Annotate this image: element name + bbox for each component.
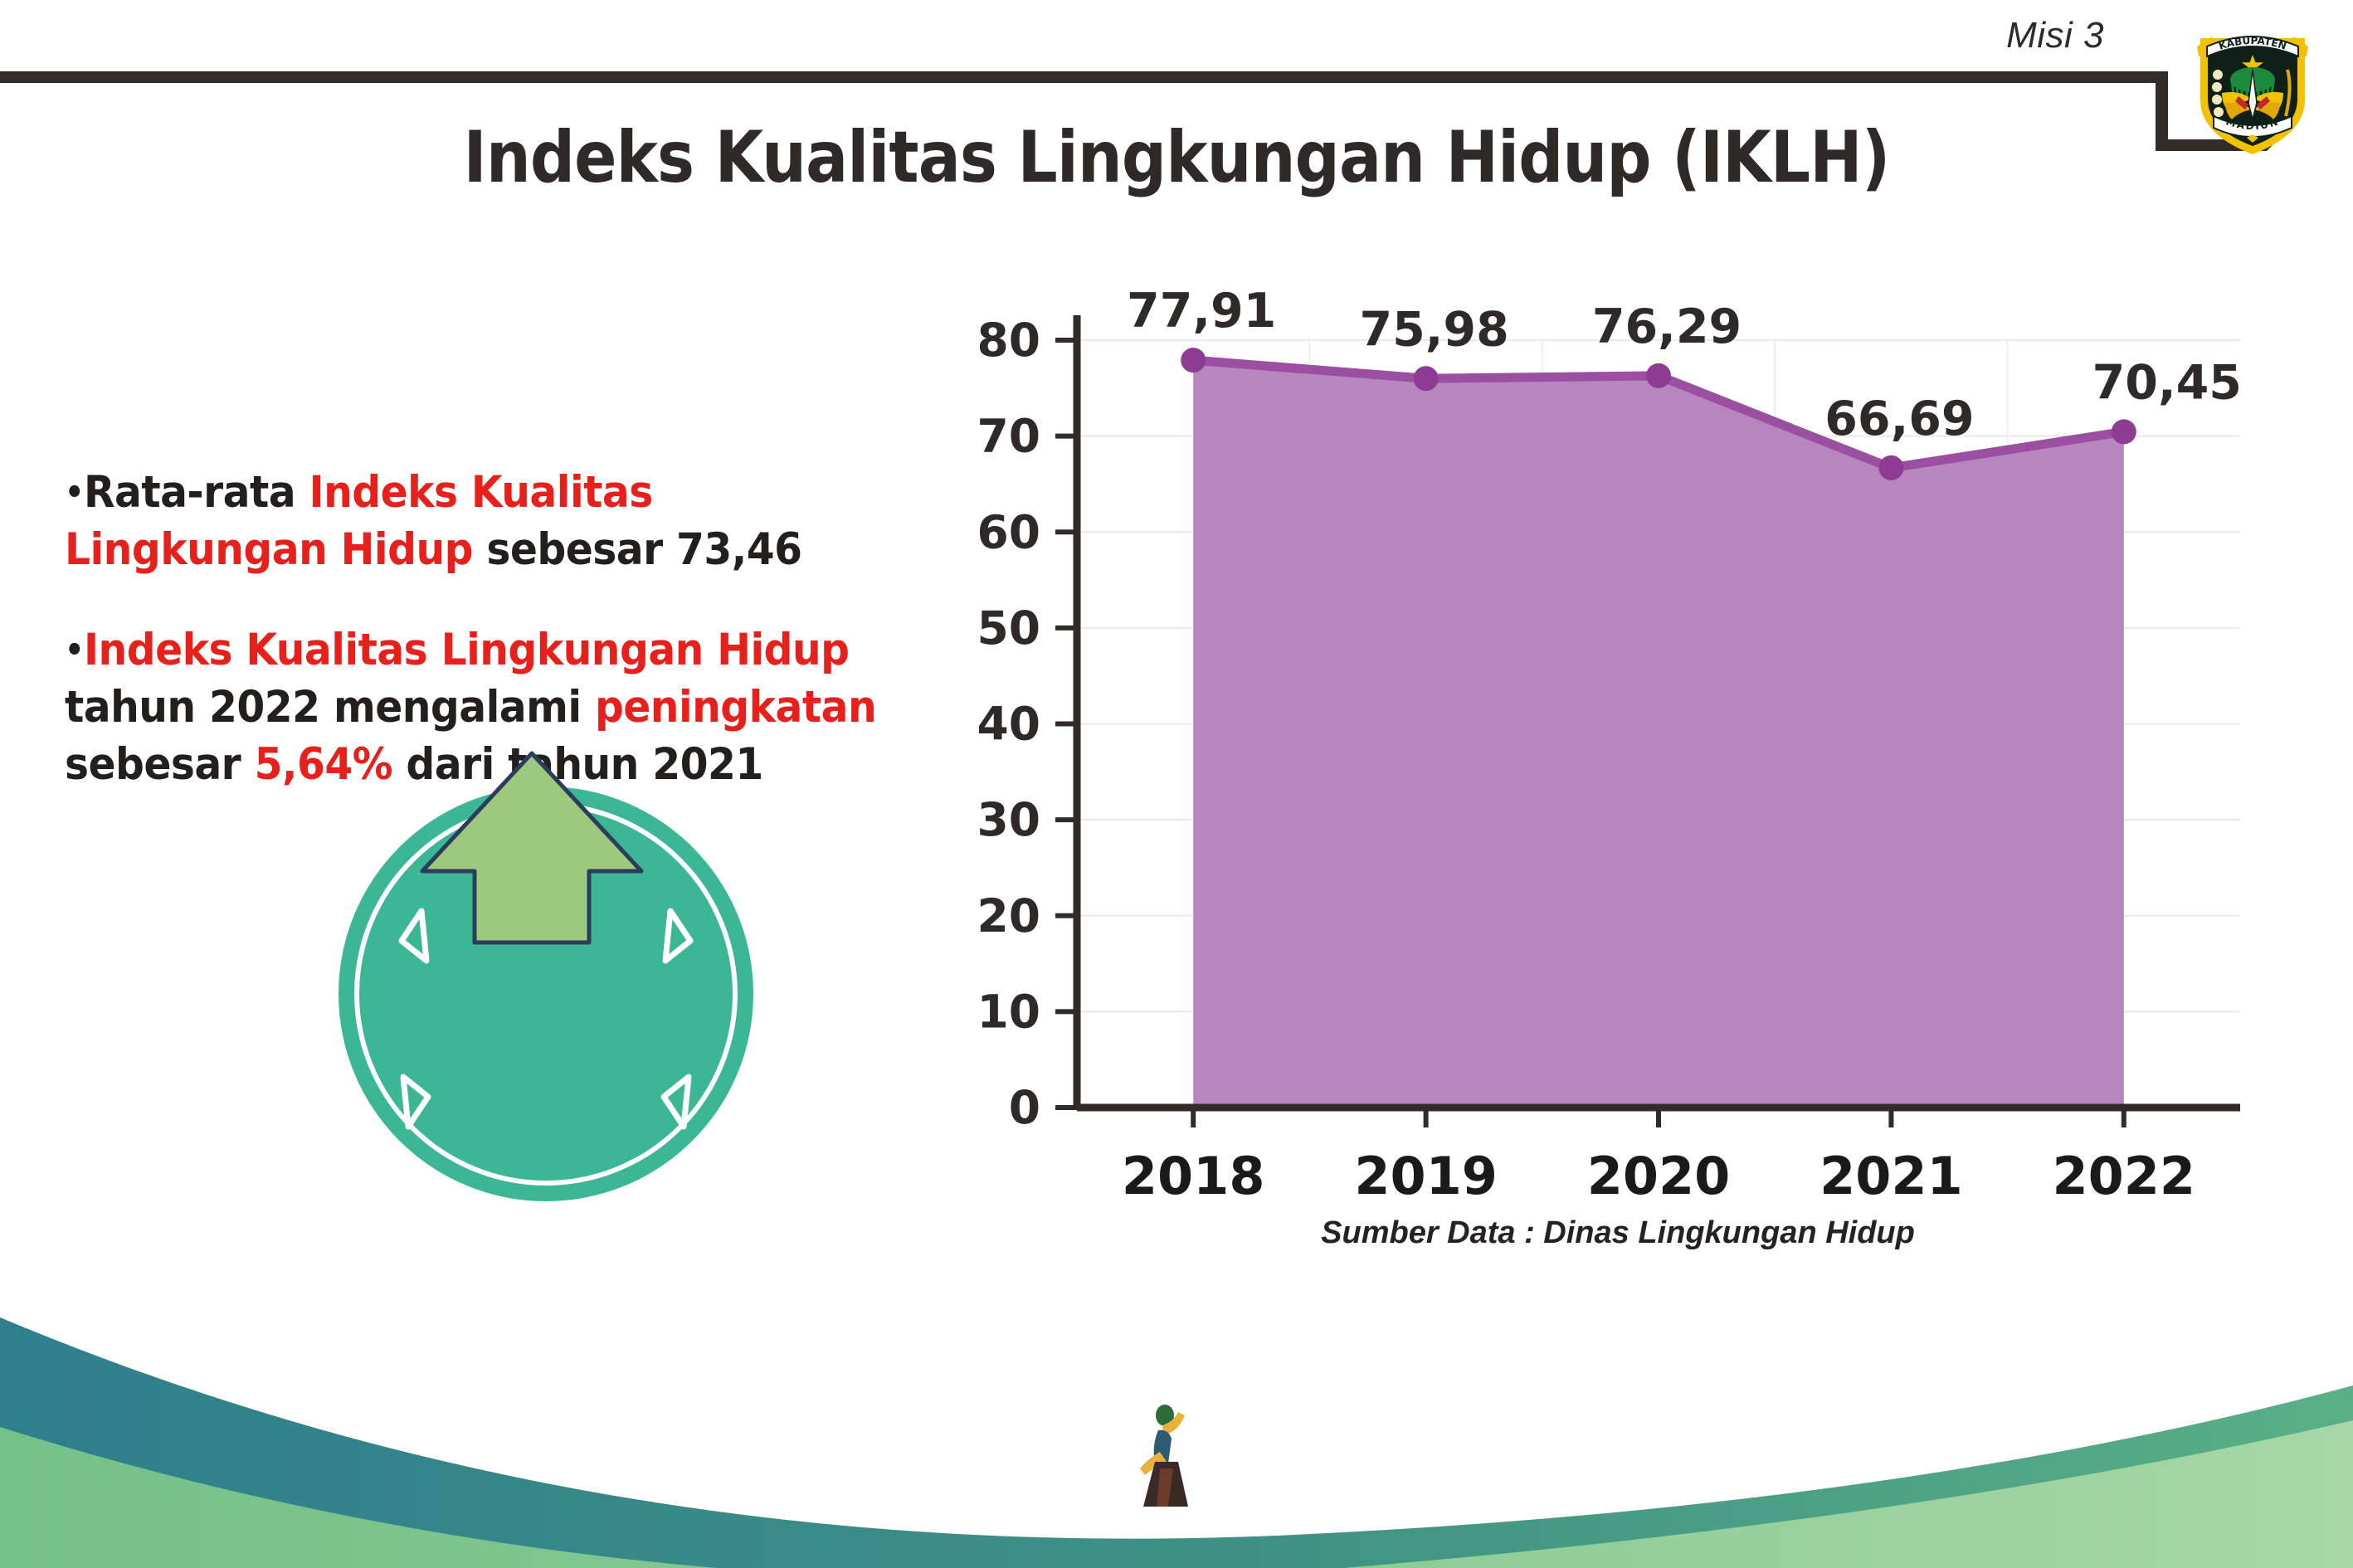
statistics-figure-icon: [1135, 1402, 1211, 1508]
bullet-dot: •: [65, 474, 84, 512]
y-axis-tick-label: 10: [977, 985, 1040, 1038]
bullet-highlight: Indeks Kualitas Lingkungan Hidup: [84, 625, 850, 675]
y-axis-tick-label: 20: [977, 889, 1040, 942]
y-axis-tick-label: 70: [977, 410, 1040, 463]
bullet-item: •Rata-rata Indeks Kualitas Lingkungan Hi…: [65, 465, 912, 579]
chart-value-label: 66,69: [1824, 392, 1974, 446]
chart-value-label: 70,45: [2092, 355, 2242, 410]
y-axis: 01020304050607080: [977, 314, 1077, 1134]
x-axis-tick-label: 2021: [1820, 1146, 1963, 1206]
chart-value-label: 77,91: [1127, 290, 1276, 338]
header-rule: [0, 71, 2164, 83]
x-axis-tick-label: 2020: [1587, 1146, 1731, 1206]
chart-source-note: Sumber Data : Dinas Lingkungan Hidup: [954, 1215, 2282, 1251]
bullet-dot: •: [65, 631, 84, 670]
bullet-highlight: peningkatan: [595, 682, 876, 733]
y-axis-tick-label: 30: [977, 793, 1040, 846]
y-axis-tick-label: 80: [977, 314, 1040, 367]
chart-value-label: 76,29: [1592, 299, 1742, 354]
x-axis-tick-label: 2019: [1354, 1146, 1498, 1206]
iklh-area-chart: 01020304050607080 20182019202020212022 7…: [954, 290, 2282, 1286]
bullet-text: sebesar: [65, 739, 255, 790]
increase-badge: [322, 728, 770, 1201]
y-axis-tick-label: 50: [977, 601, 1040, 655]
chart-value-label: 75,98: [1359, 302, 1508, 357]
y-axis-tick-label: 0: [1009, 1081, 1040, 1134]
page-title: Indeks Kualitas Lingkungan Hidup (IKLH): [141, 116, 2212, 199]
x-axis: 20182019202020212022: [1077, 1108, 2240, 1206]
x-axis-tick-label: 2022: [2053, 1146, 2196, 1206]
x-axis-tick-label: 2018: [1122, 1146, 1265, 1206]
bullet-text: sebesar 73,46: [473, 524, 802, 575]
y-axis-tick-label: 60: [977, 505, 1040, 558]
bullet-text: Rata-rata: [84, 467, 309, 518]
mission-label: Misi 3: [2006, 15, 2104, 56]
y-axis-tick-label: 40: [977, 698, 1040, 751]
bullet-text: tahun 2022 mengalami: [65, 682, 595, 733]
chart-area-fill: [1193, 360, 2124, 1108]
